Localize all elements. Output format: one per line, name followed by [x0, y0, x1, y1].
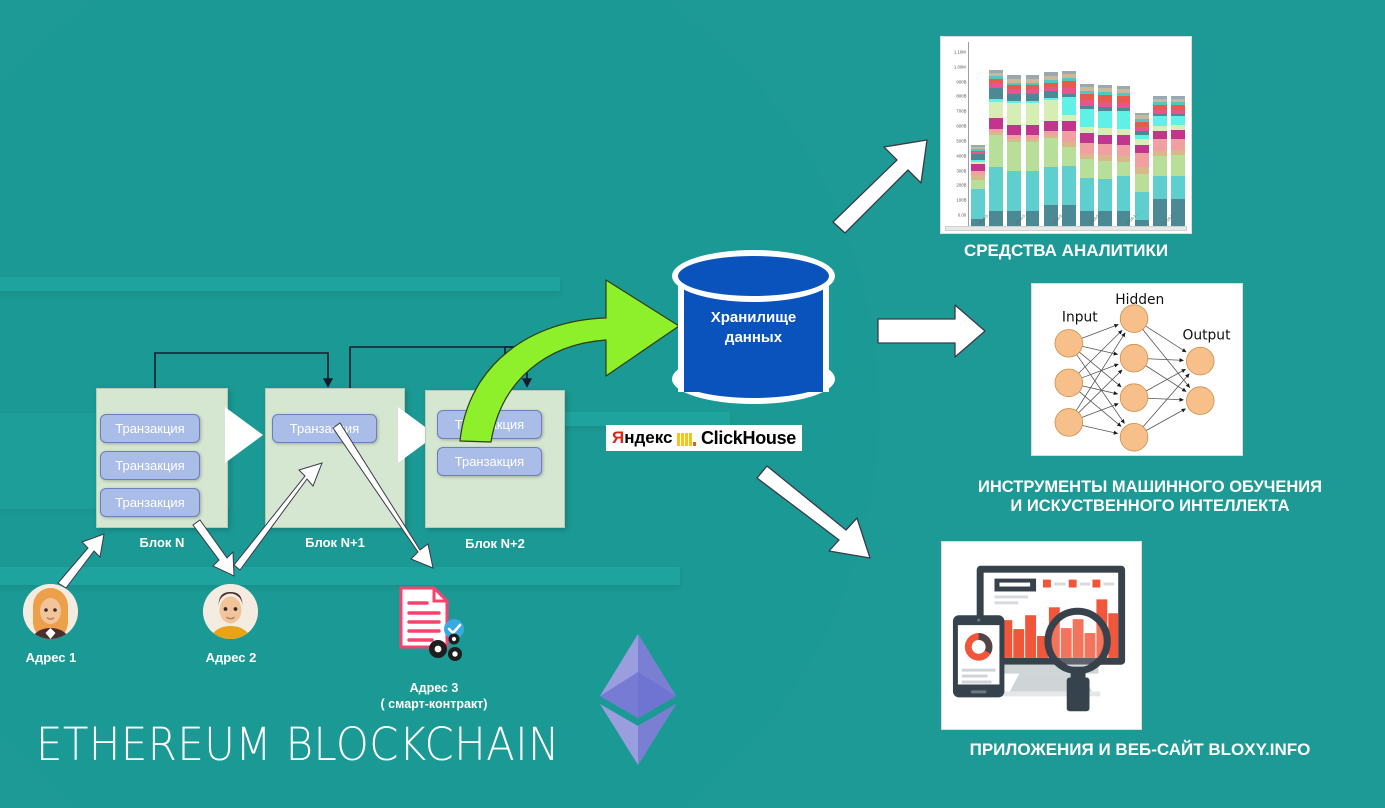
- analytics-caption: СРЕДСТВА АНАЛИТИКИ: [905, 241, 1227, 261]
- nn-edge: [1082, 404, 1119, 418]
- background-band: [0, 567, 680, 585]
- neural-network-panel[interactable]: Input Hidden Output: [1031, 283, 1243, 456]
- infographic-canvas: Транзакция Транзакция Транзакция Блок N …: [0, 0, 1385, 808]
- chart-bar-segment: [1171, 155, 1185, 176]
- chart-bar-segment: [1117, 135, 1131, 145]
- chain-chevron-icon: [223, 405, 265, 465]
- ml-ai-caption-line1: ИНСТРУМЕНТЫ МАШИННОГО ОБУЧЕНИЯ: [920, 478, 1380, 497]
- chart-bar: [1153, 96, 1167, 229]
- yandex-rest: ндекс: [624, 428, 672, 447]
- chart-y-tick: 500B: [956, 138, 966, 143]
- chart-bar-segment: [1098, 144, 1112, 155]
- chart-bar: [1026, 75, 1040, 229]
- chart-bar-segment: [1153, 176, 1167, 198]
- chart-bar-segment: [1153, 116, 1167, 126]
- arrow-to-analytics: [833, 140, 927, 233]
- chart-bar-segment: [1171, 130, 1185, 139]
- chart-bar-segment: [1098, 111, 1112, 129]
- nn-edge: [1143, 374, 1189, 427]
- chart-bar-segment: [1098, 161, 1112, 179]
- chart-bar-segment: [1117, 176, 1131, 211]
- data-store-label-line1: Хранилище: [672, 308, 835, 328]
- applications-dashboard-illustration: [942, 542, 1141, 729]
- apps-caption: ПРИЛОЖЕНИЯ И ВЕБ-САЙТ BLOXY.INFO: [905, 740, 1375, 760]
- yandex-wordmark: Яндекс: [612, 428, 672, 448]
- nn-edge: [1082, 364, 1119, 378]
- nn-edge: [1148, 398, 1184, 400]
- chart-y-tick: 700B: [956, 109, 966, 114]
- chart-bar: [989, 70, 1003, 229]
- nn-edge: [1146, 326, 1186, 352]
- block-n-plus-1-label: Блок N+1: [265, 535, 405, 550]
- nn-edge: [1079, 352, 1121, 387]
- stacked-bar-chart: 0.00100B200B300B400B500B600B700B800B900B…: [945, 42, 1187, 229]
- transaction-box[interactable]: Транзакция: [437, 447, 542, 476]
- chart-y-tick: 800B: [956, 94, 966, 99]
- chart-bar-segment: [1135, 174, 1149, 192]
- chart-bar-segment: [971, 164, 985, 171]
- chart-bar-segment: [1007, 142, 1021, 172]
- chart-bar-segment: [1171, 116, 1185, 125]
- chart-bar-segment: [1062, 97, 1076, 115]
- nn-node: [1186, 347, 1214, 375]
- chart-bar-segment: [1117, 162, 1131, 176]
- chart-bar-segment: [1135, 153, 1149, 167]
- page-title: ETHEREUM BLOCKCHAIN: [36, 718, 560, 771]
- svg-text:Input: Input: [1062, 310, 1098, 326]
- chart-bar: [1044, 72, 1058, 229]
- nn-edge: [1148, 359, 1184, 361]
- nn-edge: [1082, 325, 1119, 339]
- chart-bar: [1062, 71, 1076, 229]
- chart-bar-segment: [1062, 166, 1076, 205]
- block-n-label: Блок N: [96, 535, 228, 550]
- nn-node: [1055, 409, 1083, 437]
- chart-bar-segment: [1080, 109, 1094, 127]
- chart-bar-segment: [1026, 103, 1040, 125]
- address-2-label: Адрес 2: [180, 650, 282, 665]
- smart-contract-label: Адрес 3 ( смарт-контракт): [358, 681, 510, 712]
- applications-panel[interactable]: [941, 541, 1142, 730]
- chart-bar-segment: [989, 135, 1003, 167]
- chart-bar-segment: [1026, 142, 1040, 172]
- chart-y-tick: 300B: [956, 168, 966, 173]
- transaction-box[interactable]: Транзакция: [272, 414, 377, 443]
- chart-bar-segment: [1007, 103, 1021, 125]
- chart-y-tick: 1.00M: [954, 64, 966, 69]
- chart-bar-segment: [1080, 133, 1094, 143]
- nn-node: [1055, 369, 1083, 397]
- chart-bar-segment: [1080, 143, 1094, 154]
- chart-bar-segment: [1044, 138, 1058, 167]
- clickhouse-bars-icon: [677, 431, 696, 446]
- nn-edge: [1082, 425, 1117, 433]
- chart-bar-segment: [1080, 159, 1094, 177]
- transaction-box[interactable]: Транзакция: [100, 451, 200, 480]
- chart-bar-segment: [1007, 125, 1021, 135]
- chart-bar-segment: [1026, 171, 1040, 211]
- chart-bar-segment: [1044, 167, 1058, 205]
- chart-y-tick: 100B: [956, 197, 966, 202]
- chart-bar-segment: [1098, 179, 1112, 211]
- chart-bar: [1171, 96, 1185, 229]
- chart-y-tick: 400B: [956, 153, 966, 158]
- chart-y-tick: 600B: [956, 123, 966, 128]
- chart-y-tick: 200B: [956, 183, 966, 188]
- nn-edge: [1076, 333, 1125, 411]
- chart-bar-segment: [1007, 171, 1021, 211]
- ml-ai-caption: ИНСТРУМЕНТЫ МАШИННОГО ОБУЧЕНИЯ И ИСКУСТВ…: [920, 478, 1380, 516]
- chart-bar-segment: [1044, 121, 1058, 131]
- chart-bar-segment: [1044, 100, 1058, 121]
- chart-bar-segment: [1026, 94, 1040, 101]
- nn-node: [1120, 305, 1148, 333]
- nn-node: [1055, 329, 1083, 357]
- nn-edge: [1077, 355, 1125, 424]
- nn-node: [1120, 384, 1148, 412]
- chart-bar-segment: [989, 102, 1003, 118]
- chart-bar: [1007, 75, 1021, 229]
- svg-text:Hidden: Hidden: [1115, 292, 1164, 308]
- svg-text:Output: Output: [1182, 327, 1231, 343]
- smart-contract-label-line1: Адрес 3: [358, 681, 510, 697]
- chart-bar-segment: [1026, 125, 1040, 135]
- data-store-label: Хранилище данных: [672, 308, 835, 347]
- smart-contract-label-line2: ( смарт-контракт): [358, 697, 510, 713]
- data-store-label-line2: данных: [672, 328, 835, 348]
- block-n-plus-1: [265, 388, 405, 528]
- chart-bar-segment: [1117, 111, 1131, 129]
- chart-bar-segment: [1062, 147, 1076, 165]
- clickhouse-logo: Яндекс ClickHouse: [606, 425, 802, 451]
- chart-plot-area: [969, 42, 1187, 229]
- block-n-plus-2-label: Блок N+2: [425, 536, 565, 551]
- nn-node: [1120, 423, 1148, 451]
- chart-y-tick: 1.10M: [954, 49, 966, 54]
- chart-bar-segment: [989, 88, 1003, 99]
- chart-bar-segment: [1171, 176, 1185, 198]
- chart-bar-segment: [1171, 139, 1185, 150]
- cylinder-top: [672, 250, 835, 302]
- chart-bar-segment: [1062, 81, 1076, 88]
- neural-network-diagram: Input Hidden Output: [1032, 284, 1242, 455]
- chart-bar-segment: [1080, 178, 1094, 212]
- chart-bar-segment: [1153, 139, 1167, 150]
- chart-bar-segment: [989, 118, 1003, 129]
- nn-edge: [1146, 409, 1185, 431]
- chart-y-tick: 0.00: [958, 212, 966, 217]
- yandex-initial: Я: [612, 428, 624, 447]
- chart-bar: [1117, 86, 1131, 229]
- avatar: [203, 584, 258, 639]
- analytics-chart-panel[interactable]: 0.00100B200B300B400B500B600B700B800B900B…: [940, 36, 1192, 234]
- ml-ai-caption-line2: И ИСКУСТВЕННОГО ИНТЕЛЛЕКТА: [920, 497, 1380, 516]
- arrow-to-ml: [878, 305, 985, 357]
- clickhouse-wordmark: ClickHouse: [701, 428, 796, 449]
- address-1-label: Адрес 1: [0, 650, 102, 665]
- chart-y-tick: 900B: [956, 79, 966, 84]
- smart-contract-icon: [398, 585, 468, 665]
- chart-bar-segment: [971, 180, 985, 189]
- transaction-box[interactable]: Транзакция: [100, 488, 200, 517]
- chart-bar-segment: [1153, 156, 1167, 176]
- chart-bar: [1098, 85, 1112, 229]
- nn-node: [1120, 344, 1148, 372]
- ethereum-logo-icon: [594, 632, 682, 767]
- chart-bar: [1080, 84, 1094, 229]
- data-ingest-green-arrow: [443, 268, 693, 443]
- chart-y-axis: 0.00100B200B300B400B500B600B700B800B900B…: [945, 42, 969, 229]
- data-store-cylinder: Хранилище данных: [672, 250, 835, 410]
- chart-bar-segment: [1062, 131, 1076, 142]
- avatar: [23, 584, 78, 639]
- chart-bar-segment: [989, 167, 1003, 211]
- chart-bar-segment: [1117, 145, 1131, 156]
- nn-node: [1186, 387, 1214, 415]
- chart-bar-segment: [1007, 94, 1021, 101]
- chart-bar-segment: [1062, 121, 1076, 131]
- chart-bar-segment: [1153, 131, 1167, 140]
- chart-bar-segment: [1135, 145, 1149, 153]
- chart-scrollbar[interactable]: [945, 226, 1187, 231]
- transaction-box[interactable]: Транзакция: [100, 414, 200, 443]
- chart-bar-segment: [1098, 135, 1112, 145]
